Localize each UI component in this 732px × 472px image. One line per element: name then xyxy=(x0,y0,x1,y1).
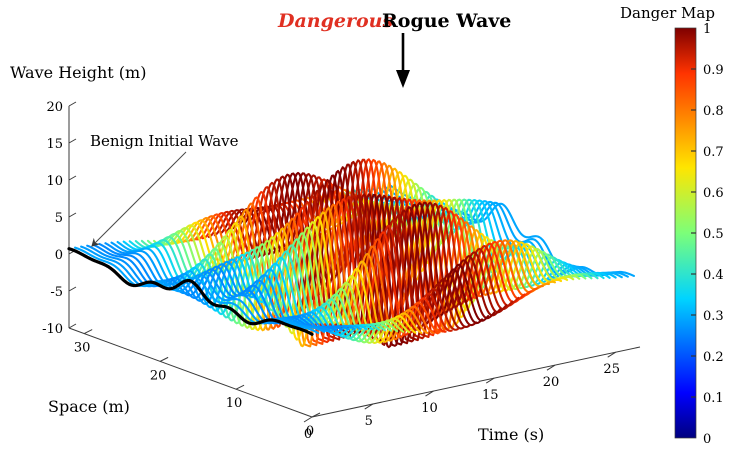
x-tick-label: 25 xyxy=(603,362,620,377)
colorbar-title: Danger Map xyxy=(620,4,715,22)
colorbar-tick-label: 0.3 xyxy=(703,309,724,324)
z-tick-label: 20 xyxy=(46,100,63,115)
x-tick-label: 0 xyxy=(304,427,312,442)
colorbar[interactable]: Danger Map 10.90.80.70.60.50.40.30.20.10 xyxy=(620,4,724,447)
colorbar-tick-label: 0.4 xyxy=(703,268,724,283)
z-tick-label: 10 xyxy=(46,174,63,189)
colorbar-tick-label: 0.1 xyxy=(703,391,724,406)
rogue-wave-arrow xyxy=(396,33,410,88)
colorbar-tick-label: 0.2 xyxy=(703,350,724,365)
colorbar-tick-label: 0 xyxy=(703,432,711,447)
colorbar-tick-label: 0.7 xyxy=(703,145,724,160)
benign-annotation-label: Benign Initial Wave xyxy=(90,132,239,150)
x-tick-label: 5 xyxy=(365,414,373,429)
title-danger-word: Dangerous xyxy=(277,10,393,32)
colorbar-tick-label: 1 xyxy=(703,22,711,37)
z-tick-label: 5 xyxy=(55,211,63,226)
colorbar-tick-label: 0.8 xyxy=(703,104,724,119)
y-axis-title: Space (m) xyxy=(48,397,130,416)
y-tick-label: 20 xyxy=(150,368,167,383)
y-tick-label: 30 xyxy=(74,341,91,356)
x-axis-title: Time (s) xyxy=(478,425,544,444)
z-tick-label: 0 xyxy=(55,248,63,263)
z-tick-label: -5 xyxy=(50,285,63,300)
colorbar-tick-label: 0.6 xyxy=(703,186,724,201)
title-main: Rogue Wave xyxy=(382,10,511,32)
y-tick-label: 10 xyxy=(226,396,243,411)
x-tick-label: 15 xyxy=(482,388,499,403)
colorbar-tick-label: 0.5 xyxy=(703,227,724,242)
z-axis-title: Wave Height (m) xyxy=(10,63,146,82)
x-tick-label: 20 xyxy=(543,375,560,390)
figure-root: Dangerous Rogue Wave 20151050-5-10302010… xyxy=(0,0,732,472)
wave-curves-group xyxy=(69,159,634,347)
waterfall-3d-plot: Dangerous Rogue Wave 20151050-5-10302010… xyxy=(0,0,732,472)
z-tick-label: 15 xyxy=(46,137,63,152)
z-tick-label: -10 xyxy=(42,322,63,337)
colorbar-tick-label: 0.9 xyxy=(703,63,724,78)
x-tick-label: 10 xyxy=(421,401,438,416)
